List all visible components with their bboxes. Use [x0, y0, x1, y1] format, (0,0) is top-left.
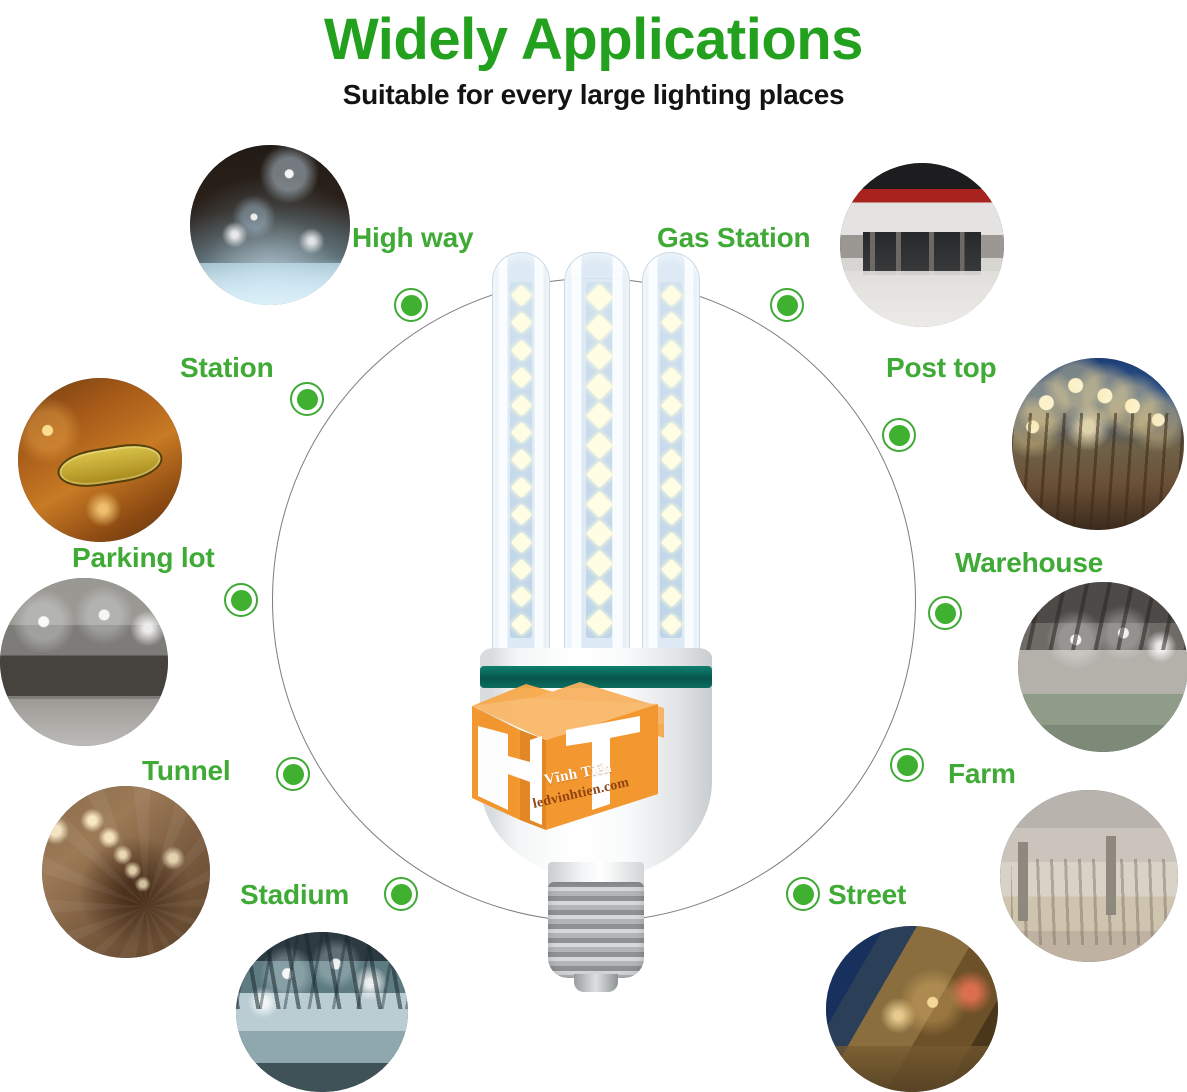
led-chip: [660, 312, 681, 333]
led-chip: [510, 614, 531, 635]
led-chip: [510, 367, 531, 388]
led-chip: [510, 504, 531, 525]
page-subtitle: Suitable for every large lighting places: [0, 79, 1187, 111]
bulb-base-tip: [574, 974, 618, 992]
scene-high-way: [190, 145, 350, 305]
node-marker-post-top[interactable]: [882, 418, 916, 452]
led-chip: [510, 312, 531, 333]
node-marker-high-way[interactable]: [394, 288, 428, 322]
led-chip: [660, 395, 681, 416]
led-chip: [586, 461, 613, 488]
led-chip: [660, 422, 681, 443]
scene-tunnel: [42, 786, 210, 958]
photo-post-top: [1012, 358, 1184, 530]
led-chip: [660, 559, 681, 580]
photo-gas-station: [840, 163, 1004, 327]
scene-street: [826, 926, 998, 1092]
node-marker-street[interactable]: [786, 877, 820, 911]
led-chip: [586, 609, 613, 636]
led-bulb-illustration: [452, 252, 742, 952]
node-marker-farm[interactable]: [890, 748, 924, 782]
led-chip: [660, 586, 681, 607]
scene-farm: [1000, 790, 1178, 962]
led-chip: [586, 432, 613, 459]
led-chip: [586, 373, 613, 400]
node-marker-stadium[interactable]: [384, 877, 418, 911]
led-strip-left: [510, 282, 532, 638]
photo-parking-lot: [0, 578, 168, 746]
led-chip: [510, 449, 531, 470]
led-chip: [586, 550, 613, 577]
node-marker-tunnel[interactable]: [276, 757, 310, 791]
led-chip: [510, 422, 531, 443]
led-chip: [586, 314, 613, 341]
infographic-canvas: Widely Applications Suitable for every l…: [0, 0, 1187, 1092]
led-chip: [586, 343, 613, 370]
led-chip: [660, 504, 681, 525]
scene-warehouse: [1018, 582, 1187, 752]
led-chip: [586, 520, 613, 547]
node-marker-parking-lot[interactable]: [224, 583, 258, 617]
led-chip: [660, 449, 681, 470]
led-chip: [660, 614, 681, 635]
photo-stadium: [236, 932, 408, 1092]
label-post-top: Post top: [886, 352, 996, 384]
led-chip: [586, 579, 613, 606]
label-street: Street: [828, 879, 906, 911]
bulb-glass-tubes: [490, 252, 702, 662]
photo-farm: [1000, 790, 1178, 962]
led-chip: [660, 532, 681, 553]
led-chip: [510, 559, 531, 580]
watermark-logo: Vĩnh Tiến ledvinhtien.com: [468, 678, 668, 843]
ht-box-logo-icon: [468, 678, 668, 843]
label-tunnel: Tunnel: [142, 755, 231, 787]
led-chip: [586, 402, 613, 429]
photo-station: [18, 378, 182, 542]
label-high-way: High way: [352, 222, 473, 254]
led-chip: [586, 284, 613, 311]
node-marker-warehouse[interactable]: [928, 596, 962, 630]
led-chip: [510, 285, 531, 306]
node-marker-gas-station[interactable]: [770, 288, 804, 322]
led-chip: [660, 477, 681, 498]
photo-warehouse: [1018, 582, 1187, 752]
label-warehouse: Warehouse: [955, 547, 1103, 579]
led-chip: [510, 395, 531, 416]
scene-post-top: [1012, 358, 1184, 530]
led-chip: [586, 491, 613, 518]
photo-street: [826, 926, 998, 1092]
label-stadium: Stadium: [240, 879, 349, 911]
photo-tunnel: [42, 786, 210, 958]
led-chip: [510, 586, 531, 607]
page-title: Widely Applications: [0, 0, 1187, 73]
led-chip: [660, 285, 681, 306]
node-marker-station[interactable]: [290, 382, 324, 416]
label-parking-lot: Parking lot: [72, 542, 215, 574]
scene-parking-lot: [0, 578, 168, 746]
label-farm: Farm: [948, 758, 1016, 790]
bulb-e27-screw-base: [548, 882, 644, 978]
header: Widely Applications Suitable for every l…: [0, 0, 1187, 111]
scene-gas-station: [840, 163, 1004, 327]
led-chip: [660, 367, 681, 388]
scene-stadium: [236, 932, 408, 1092]
scene-station: [18, 378, 182, 542]
led-chip: [510, 340, 531, 361]
led-strip-center: [586, 282, 612, 638]
label-gas-station: Gas Station: [657, 222, 810, 254]
label-station: Station: [180, 352, 273, 384]
led-chip: [510, 477, 531, 498]
led-chip: [660, 340, 681, 361]
photo-high-way: [190, 145, 350, 305]
led-chip: [510, 532, 531, 553]
led-strip-right: [660, 282, 682, 638]
